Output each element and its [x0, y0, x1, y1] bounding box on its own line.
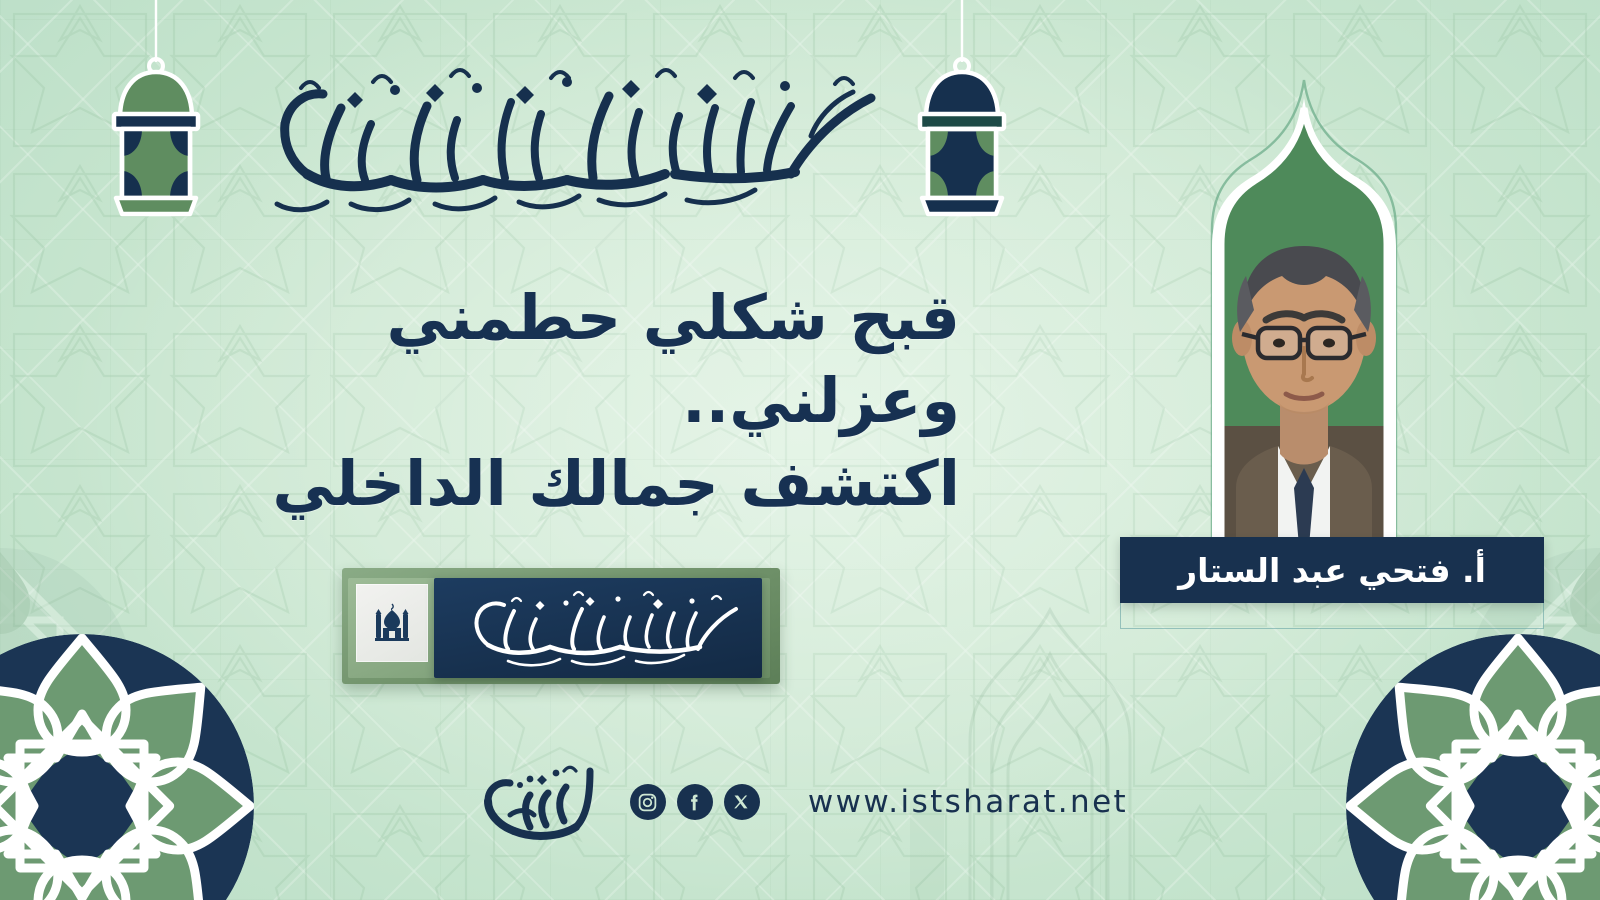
headline-line-1: قبح شكلي حطمني وعزلني.. [180, 276, 960, 442]
facebook-icon[interactable] [677, 784, 713, 820]
lantern-icon [902, 0, 1022, 222]
site-url[interactable]: www.istsharat.net [808, 784, 1128, 820]
mosque-arch-watermark-icon [880, 600, 1220, 900]
headline: قبح شكلي حطمني وعزلني.. اكتشف جمالك الدا… [180, 276, 960, 525]
x-twitter-icon[interactable] [724, 784, 760, 820]
speaker-portrait [1118, 96, 1490, 566]
social-links[interactable] [630, 784, 760, 820]
portrait-arch-frame [1118, 96, 1490, 566]
headline-line-2: اكتشف جمالك الداخلي [180, 442, 960, 525]
mosque-icon [369, 600, 415, 646]
banner-canvas: قبح شكلي حطمني وعزلني.. اكتشف جمالك الدا… [0, 0, 1600, 900]
speaker-name-badge: أ. فتحي عبد الستار [1120, 537, 1544, 603]
portal-title-calligraphy [195, 62, 895, 222]
instagram-icon[interactable] [630, 784, 666, 820]
plaque-mosque-panel [356, 584, 428, 662]
almujtama-logo-calligraphy [472, 759, 600, 845]
footer-bar: www.istsharat.net [0, 756, 1600, 848]
programme-plaque [342, 568, 780, 684]
portal-title-calligraphy-art [195, 62, 895, 222]
plaque-calligraphy-board [434, 578, 762, 678]
plaque-calligraphy-art [448, 589, 748, 667]
speaker-name: أ. فتحي عبد الستار [1178, 551, 1486, 590]
